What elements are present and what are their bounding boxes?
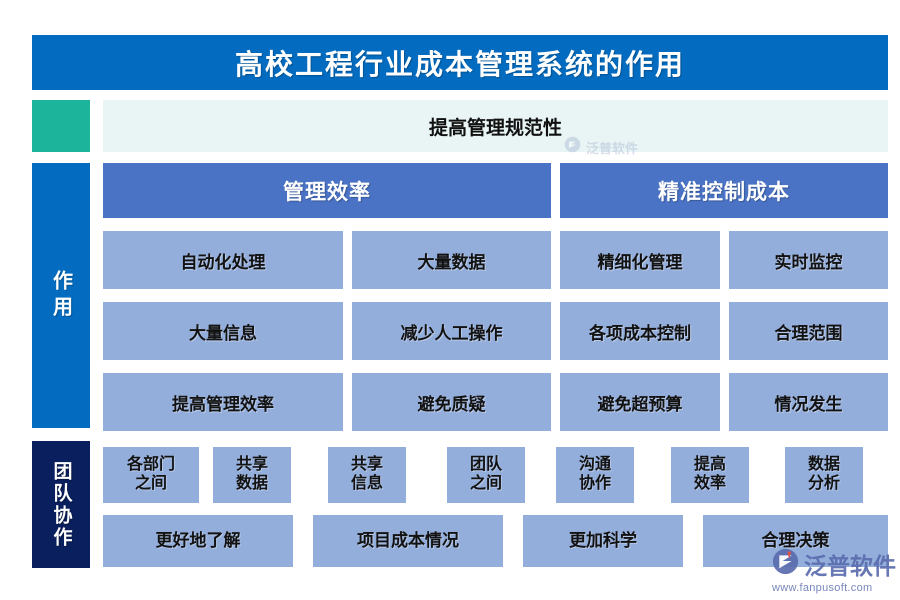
- banner-label: 提高管理规范性: [429, 113, 562, 140]
- team-wide-chip-label: 项目成本情况: [357, 531, 459, 551]
- grid-cell[interactable]: 实时监控: [729, 231, 888, 289]
- section-label-zuoyong: 作用: [32, 163, 90, 428]
- team-chip-label: 共享数据: [236, 456, 268, 494]
- grid-cell-label: 提高管理效率: [172, 390, 274, 415]
- grid-cell[interactable]: 提高管理效率: [103, 373, 343, 431]
- section-label-zuoyong-text: 作用: [47, 270, 76, 322]
- team-wide-chip[interactable]: 更好地了解: [103, 515, 293, 567]
- page-title: 高校工程行业成本管理系统的作用: [235, 43, 685, 83]
- team-wide-chip[interactable]: 项目成本情况: [313, 515, 503, 567]
- team-chip[interactable]: 提高效率: [671, 447, 749, 503]
- team-chip-label: 团队之间: [470, 456, 502, 494]
- grid-cell-label: 避免质疑: [418, 390, 486, 415]
- team-chip-label: 沟通协作: [579, 456, 611, 494]
- team-chip[interactable]: 数据分析: [785, 447, 863, 503]
- team-wide-chip[interactable]: 更加科学: [523, 515, 683, 567]
- grid-cell-label: 大量数据: [418, 248, 486, 273]
- grid-cell-label: 各项成本控制: [589, 319, 691, 344]
- page-title-bar: 高校工程行业成本管理系统的作用: [32, 35, 888, 90]
- grid-cell[interactable]: 避免质疑: [352, 373, 551, 431]
- section-label-team: 团队协作: [32, 441, 90, 568]
- team-chip[interactable]: 沟通协作: [556, 447, 634, 503]
- team-chip-label: 各部门之间: [127, 456, 175, 494]
- team-chip-label: 共享信息: [351, 456, 383, 494]
- grid-cell[interactable]: 精细化管理: [560, 231, 720, 289]
- grid-cell-label: 减少人工操作: [401, 319, 503, 344]
- section-label-team-text: 团队协作: [48, 461, 75, 549]
- team-wide-chip-label: 更加科学: [569, 531, 637, 551]
- grid-cell-label: 避免超预算: [598, 390, 683, 415]
- team-chip[interactable]: 团队之间: [447, 447, 525, 503]
- grid-cell-label: 精细化管理: [598, 248, 683, 273]
- team-wide-chip-label: 合理决策: [762, 531, 830, 551]
- grid-cell[interactable]: 大量信息: [103, 302, 343, 360]
- grid-cell-label: 自动化处理: [181, 248, 266, 273]
- grid-cell[interactable]: 避免超预算: [560, 373, 720, 431]
- grid-cell[interactable]: 减少人工操作: [352, 302, 551, 360]
- grid-cell[interactable]: 各项成本控制: [560, 302, 720, 360]
- grid-cell-label: 实时监控: [775, 248, 843, 273]
- grid-cell-label: 情况发生: [775, 390, 843, 415]
- grid-cell[interactable]: 合理范围: [729, 302, 888, 360]
- grid-cell[interactable]: 自动化处理: [103, 231, 343, 289]
- category-header-label: 精准控制成本: [658, 176, 790, 206]
- grid-cell[interactable]: 大量数据: [352, 231, 551, 289]
- category-header-cost-control[interactable]: 精准控制成本: [560, 163, 888, 218]
- grid-cell-label: 合理范围: [775, 319, 843, 344]
- accent-chip: [32, 100, 90, 152]
- banner-row: 提高管理规范性: [103, 100, 888, 152]
- team-wide-chip[interactable]: 合理决策: [703, 515, 888, 567]
- team-chip[interactable]: 共享数据: [213, 447, 291, 503]
- infographic-canvas: 高校工程行业成本管理系统的作用 提高管理规范性 作用 管理效率 精准控制成本 自…: [0, 0, 900, 600]
- category-header-label: 管理效率: [283, 176, 371, 206]
- team-wide-chip-label: 更好地了解: [156, 531, 241, 551]
- team-chip[interactable]: 共享信息: [328, 447, 406, 503]
- grid-cell[interactable]: 情况发生: [729, 373, 888, 431]
- team-chip-label: 数据分析: [808, 456, 840, 494]
- category-header-management-efficiency[interactable]: 管理效率: [103, 163, 551, 218]
- team-chip-label: 提高效率: [694, 456, 726, 494]
- grid-cell-label: 大量信息: [189, 319, 257, 344]
- team-chip[interactable]: 各部门之间: [103, 447, 199, 503]
- watermark-url: www.fanpusoft.com: [772, 582, 872, 594]
